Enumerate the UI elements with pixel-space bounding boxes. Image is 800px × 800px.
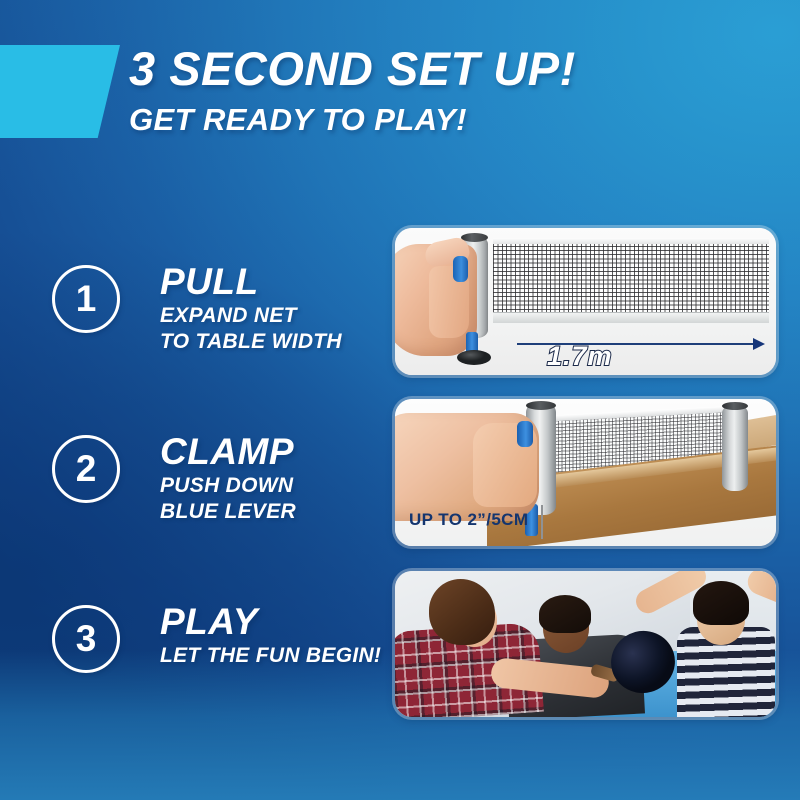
step-number-badge-2: 2 — [52, 435, 120, 503]
measurement-label-thickness: UP TO 2”/5CM — [409, 510, 528, 530]
photo-panel-play — [395, 571, 776, 717]
step-number-badge-1: 1 — [52, 265, 120, 333]
blue-lever — [453, 256, 468, 282]
net-bottom-rail — [493, 312, 769, 323]
step-text-block-1: PULL EXPAND NET TO TABLE WIDTH — [160, 261, 342, 354]
step-title-2: CLAMP — [160, 431, 296, 472]
step-number-badge-3: 3 — [52, 605, 120, 673]
player-right-hair — [693, 581, 749, 625]
page-subtitle: GET READY TO PLAY! — [129, 102, 467, 138]
step-text-block-2: CLAMP PUSH DOWN BLUE LEVER — [160, 431, 296, 524]
page-title: 3 SECOND SET UP! — [129, 42, 576, 96]
photo-play — [395, 571, 776, 717]
net-post-right — [722, 405, 748, 491]
player-center-hair — [539, 595, 591, 633]
step-title-3: PLAY — [160, 601, 381, 642]
step-title-1: PULL — [160, 261, 342, 302]
step-subtitle-1-line2: TO TABLE WIDTH — [160, 329, 342, 354]
photo-clamp: UP TO 2”/5CM — [395, 399, 776, 546]
photo-pull: 1.7m — [395, 228, 776, 375]
photo-panel-clamp: UP TO 2”/5CM — [395, 399, 776, 546]
player-left-hair — [429, 579, 495, 645]
net-post-right-cap — [722, 402, 748, 410]
step-text-block-3: PLAY LET THE FUN BEGIN! — [160, 601, 381, 668]
step-number-2: 2 — [76, 450, 97, 487]
measure-arrow-head-icon — [753, 338, 765, 350]
step-subtitle-1-line1: EXPAND NET — [160, 303, 342, 328]
net-post-left-cap — [526, 401, 556, 410]
measure-tick-mark — [541, 505, 543, 539]
measurement-label-width: 1.7m — [547, 341, 613, 372]
step-number-3: 3 — [76, 620, 97, 657]
clamp-knob — [457, 350, 491, 365]
step-number-1: 1 — [76, 280, 97, 317]
net-mesh — [493, 244, 769, 314]
cyan-accent-shape — [0, 45, 120, 138]
step-subtitle-2-line2: BLUE LEVER — [160, 499, 296, 524]
blue-lever — [517, 421, 533, 447]
step-subtitle-2-line1: PUSH DOWN — [160, 473, 296, 498]
photo-panel-pull: 1.7m — [395, 228, 776, 375]
step-subtitle-3-line1: LET THE FUN BEGIN! — [160, 643, 381, 668]
header: 3 SECOND SET UP! GET READY TO PLAY! — [0, 0, 800, 160]
